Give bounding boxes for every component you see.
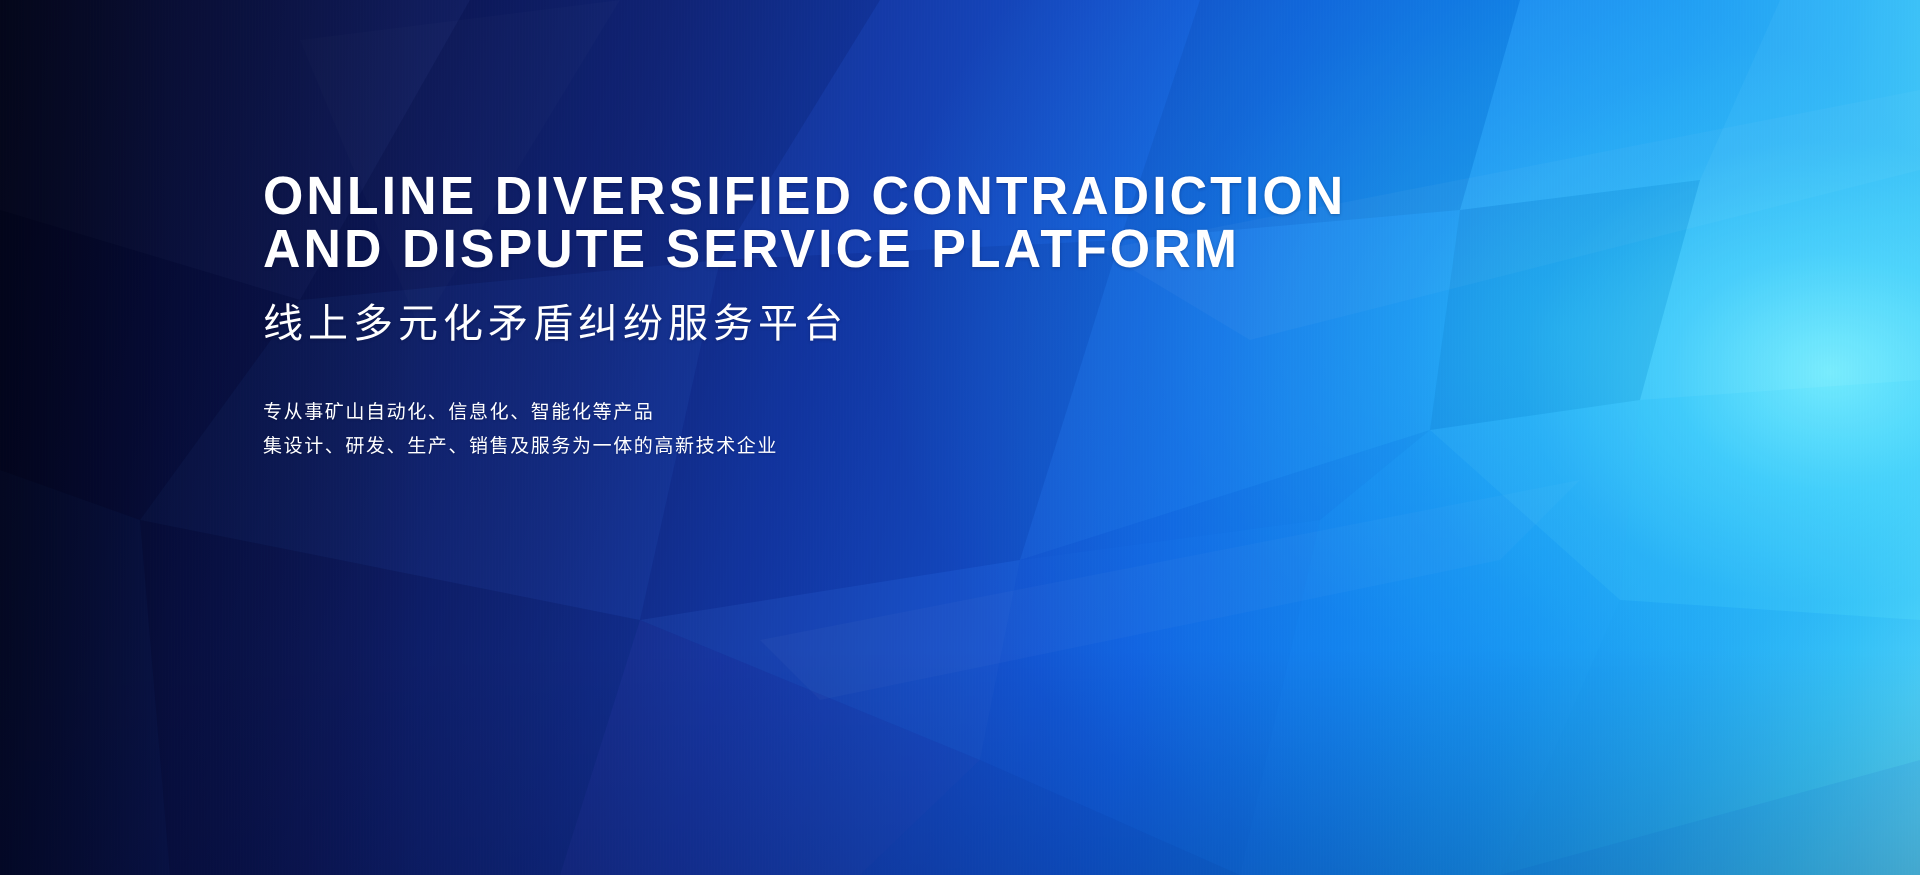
lede-line-1: 专从事矿山自动化、信息化、智能化等产品 (263, 396, 1463, 430)
headline-line-1: ONLINE DIVERSIFIED CONTRADICTION (263, 170, 1415, 223)
banner-headline: ONLINE DIVERSIFIED CONTRADICTION AND DIS… (263, 170, 1415, 276)
lede-line-2: 集设计、研发、生产、销售及服务为一体的高新技术企业 (263, 430, 1463, 464)
banner-subtitle: 线上多元化矛盾纠纷服务平台 (263, 298, 1463, 350)
banner-lede: 专从事矿山自动化、信息化、智能化等产品 集设计、研发、生产、销售及服务为一体的高… (263, 396, 1463, 464)
headline-line-2: AND DISPUTE SERVICE PLATFORM (263, 223, 1415, 276)
banner-content: ONLINE DIVERSIFIED CONTRADICTION AND DIS… (263, 170, 1463, 464)
hero-banner: ONLINE DIVERSIFIED CONTRADICTION AND DIS… (0, 0, 1920, 875)
